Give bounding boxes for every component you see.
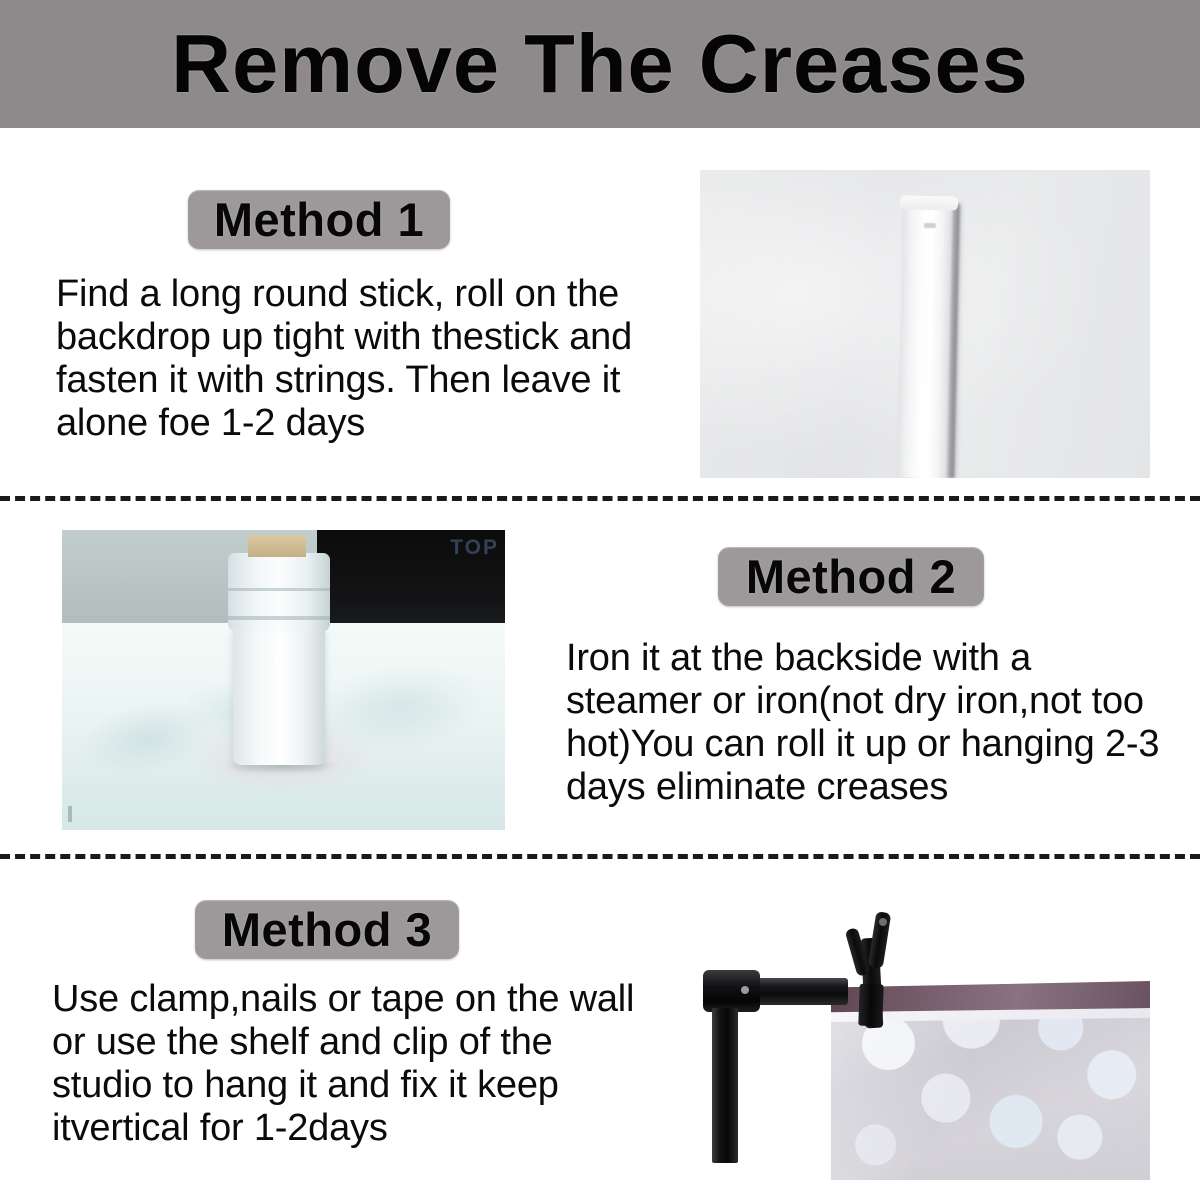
steamer-nozzle-icon bbox=[248, 535, 306, 557]
clamp-pivot-icon bbox=[879, 918, 887, 926]
clamp-jaw-icon bbox=[858, 984, 883, 1027]
method-3-badge: Method 3 bbox=[195, 900, 459, 959]
steamer-indicator-light bbox=[272, 650, 281, 666]
method-2-photo: TOP bbox=[62, 530, 505, 830]
method-1-badge-label: Method 1 bbox=[214, 192, 424, 247]
section-divider-1 bbox=[0, 496, 1200, 501]
header-band: Remove The Creases bbox=[0, 0, 1200, 128]
steamer-body-icon bbox=[233, 626, 325, 765]
method-2-badge: Method 2 bbox=[718, 547, 984, 606]
photo-2-black-panel: TOP bbox=[317, 530, 505, 629]
stand-joint-icon bbox=[703, 970, 760, 1012]
method-3-photo bbox=[683, 900, 1150, 1200]
method-2-badge-label: Method 2 bbox=[746, 549, 956, 604]
method-3-badge-label: Method 3 bbox=[222, 902, 432, 957]
page-title: Remove The Creases bbox=[0, 18, 1200, 110]
rolled-backdrop-mark bbox=[924, 223, 936, 228]
stand-joint-bolt bbox=[741, 986, 749, 994]
method-1-badge: Method 1 bbox=[188, 190, 450, 249]
method-2-description: Iron it at the backside with a steamer o… bbox=[566, 637, 1176, 809]
photo-2-panel-label: TOP bbox=[450, 536, 499, 560]
steamer-seam bbox=[228, 588, 330, 591]
method-1-description: Find a long round stick, roll on the bac… bbox=[56, 273, 656, 445]
method-1-photo bbox=[700, 170, 1150, 478]
photo-2-corner-mark bbox=[68, 806, 72, 822]
instruction-infographic: Remove The Creases Method 1 Find a long … bbox=[0, 0, 1200, 1200]
rolled-backdrop-top-cap bbox=[900, 195, 958, 210]
stand-upright-pole-icon bbox=[712, 1008, 738, 1163]
section-divider-2 bbox=[0, 854, 1200, 859]
steamer-seam bbox=[228, 616, 330, 620]
method-3-description: Use clamp,nails or tape on the wall or u… bbox=[52, 978, 660, 1150]
